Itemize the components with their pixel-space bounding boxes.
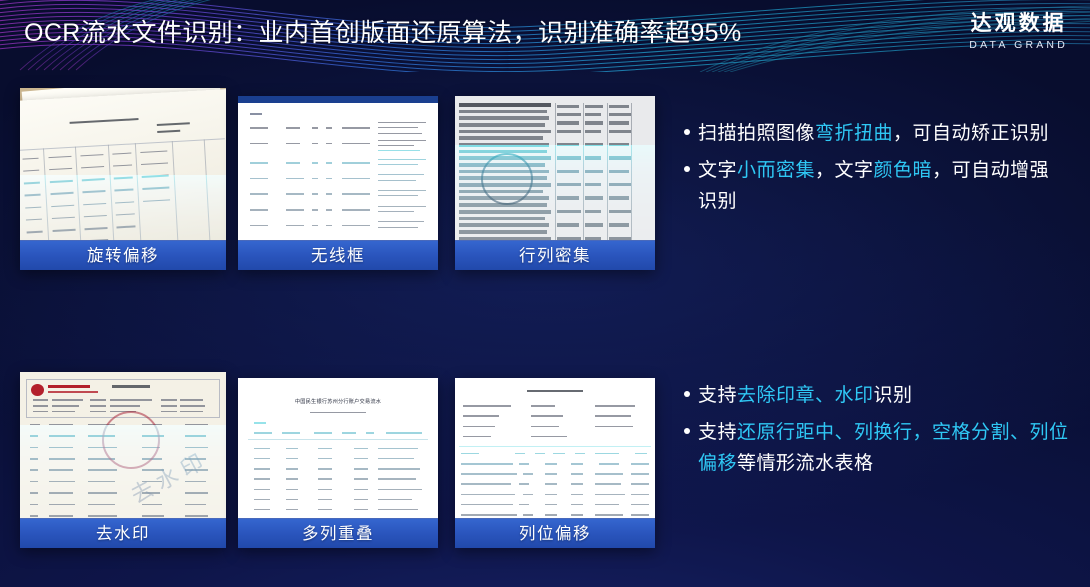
seg-plain: 支持 [698, 422, 737, 443]
sample-card-borderless[interactable]: 无线框 [238, 96, 438, 270]
sample-card-column-shift[interactable]: 列位偏移 [455, 378, 655, 548]
sample-card-multi-column-overlap[interactable]: 中国民生银行苏州分行账户交易流水 [238, 378, 438, 548]
feature-text-small-dense: 文字小而密集，文字颜色暗，可自动增强识别 [698, 155, 1064, 217]
seg-plain: ，可自动矫正识别 [893, 123, 1049, 144]
seg-plain: 识别 [874, 385, 913, 406]
feature-text-layout-restore: 支持还原行距中、列换行，空格分割、列位偏移等情形流水表格 [698, 417, 1074, 479]
brand-logo-en: DATA GRAND [969, 38, 1068, 53]
sample-card-dense-rows[interactable]: 行列密集 [455, 96, 655, 270]
seg-plain: ，文字 [815, 160, 874, 181]
feature-list-top: 扫描拍照图像弯折扭曲，可自动矫正识别 文字小而密集，文字颜色暗，可自动增强识别 [684, 118, 1064, 223]
page-title: OCR流水文件识别：业内首创版面还原算法，识别准确率超95% [24, 16, 742, 50]
card-caption-rotation-offset: 旋转偏移 [20, 240, 226, 270]
feature-item: 扫描拍照图像弯折扭曲，可自动矫正识别 [684, 118, 1064, 149]
seg-highlight: 去除印章、水印 [737, 385, 874, 406]
document-seal-icon [481, 153, 533, 205]
card-caption-column-shift: 列位偏移 [455, 518, 655, 548]
document-heading: 中国民生银行苏州分行账户交易流水 [238, 398, 438, 405]
bullet-dot-icon [684, 129, 690, 135]
seg-plain: 等情形流水表格 [737, 453, 874, 474]
feature-list-bottom: 支持去除印章、水印识别 支持还原行距中、列换行，空格分割、列位偏移等情形流水表格 [684, 380, 1074, 485]
sample-card-rotation-offset[interactable]: 旋转偏移 [20, 88, 226, 270]
seg-highlight: 弯折扭曲 [815, 123, 893, 144]
brand-logo: 达观数据 DATA GRAND [969, 12, 1068, 53]
bullet-dot-icon [684, 391, 690, 397]
seg-plain: 支持 [698, 385, 737, 406]
seg-highlight: 小而密集 [737, 160, 815, 181]
card-caption-borderless: 无线框 [238, 240, 438, 270]
seg-highlight: 颜色暗 [874, 160, 933, 181]
feature-item: 支持还原行距中、列换行，空格分割、列位偏移等情形流水表格 [684, 417, 1074, 479]
sample-card-remove-watermark[interactable]: 去水印 去水印 [20, 372, 226, 548]
card-caption-dense-rows: 行列密集 [455, 240, 655, 270]
bullet-dot-icon [684, 428, 690, 434]
card-caption-remove-watermark: 去水印 [20, 518, 226, 548]
seg-plain: 文字 [698, 160, 737, 181]
feature-text-distortion: 扫描拍照图像弯折扭曲，可自动矫正识别 [698, 118, 1049, 149]
feature-item: 支持去除印章、水印识别 [684, 380, 1074, 411]
card-caption-multi-column-overlap: 多列重叠 [238, 518, 438, 548]
seg-plain: 扫描拍照图像 [698, 123, 815, 144]
feature-text-seal-watermark: 支持去除印章、水印识别 [698, 380, 913, 411]
red-seal-icon [102, 411, 160, 469]
feature-item: 文字小而密集，文字颜色暗，可自动增强识别 [684, 155, 1064, 217]
bullet-dot-icon [684, 166, 690, 172]
brand-logo-cn: 达观数据 [969, 12, 1068, 36]
